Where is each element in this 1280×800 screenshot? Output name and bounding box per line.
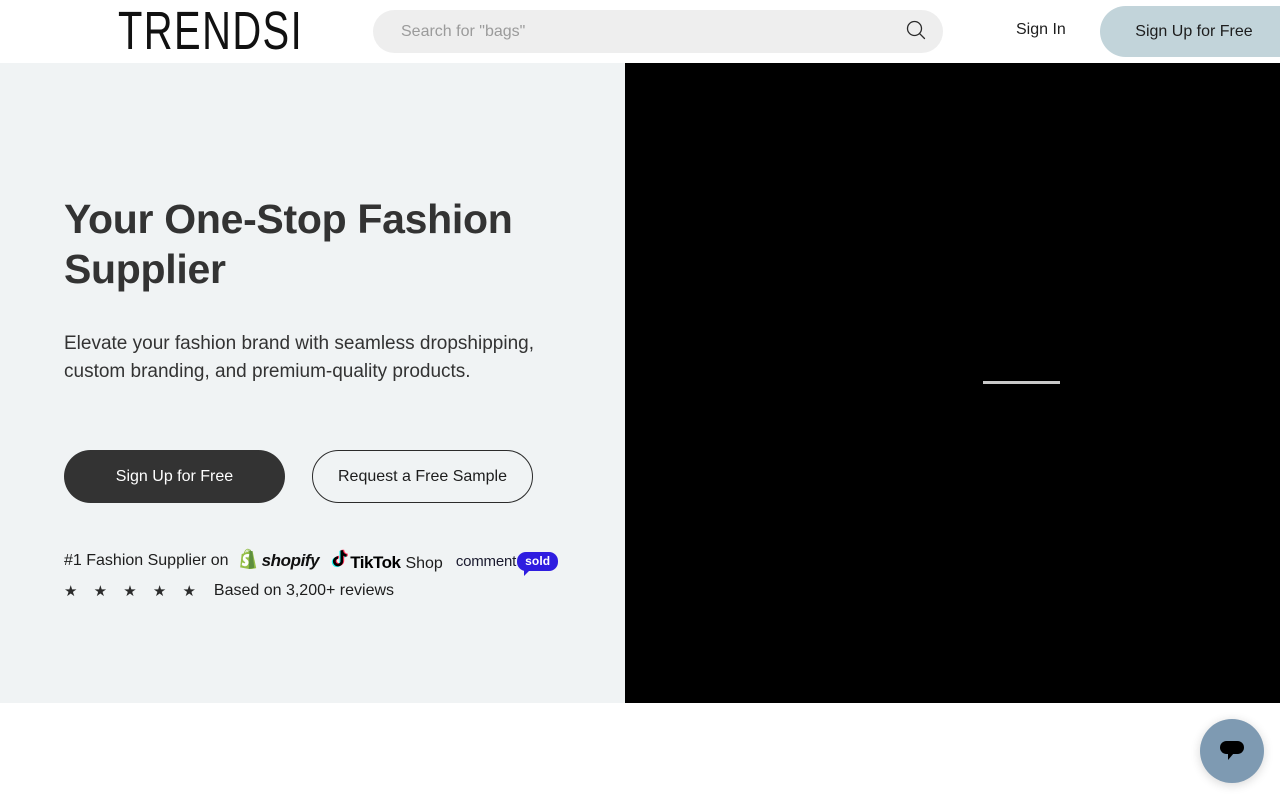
tiktok-wordmark: TikTok <box>350 553 400 573</box>
site-header: TRENDSI Sign In Sign Up for Free <box>0 0 1280 63</box>
brand-logo[interactable]: TRENDSI <box>118 4 303 58</box>
search-submit-button[interactable] <box>897 10 943 53</box>
chat-widget-button[interactable] <box>1200 719 1264 783</box>
search-bar[interactable] <box>373 10 943 53</box>
search-input[interactable] <box>373 23 897 41</box>
social-proof-prefix: #1 Fashion Supplier on <box>64 552 229 570</box>
review-count-label: Based on 3,200+ reviews <box>214 582 394 600</box>
video-progress-bar[interactable] <box>983 381 1060 384</box>
hero-sign-up-button[interactable]: Sign Up for Free <box>64 450 285 503</box>
hero-content: Your One-Stop Fashion Supplier Elevate y… <box>64 194 584 601</box>
header-sign-up-button[interactable]: Sign Up for Free <box>1100 6 1280 57</box>
commentsold-logo: comment sold <box>456 552 558 571</box>
shopify-logo: shopify <box>239 548 320 574</box>
commentsold-badge: sold <box>517 552 558 571</box>
hero-cta-row: Sign Up for Free Request a Free Sample <box>64 450 584 503</box>
chat-bubble-icon <box>1216 735 1248 768</box>
sign-in-button[interactable]: Sign In <box>1016 21 1066 39</box>
hero-section: Your One-Stop Fashion Supplier Elevate y… <box>0 63 1280 703</box>
tiktok-shop-logo: TikTok Shop <box>331 549 443 573</box>
social-proof-row: #1 Fashion Supplier on shopify <box>64 550 584 572</box>
tiktok-note-icon <box>331 549 348 573</box>
shopify-wordmark: shopify <box>262 551 320 571</box>
tiktok-shop-label: Shop <box>405 555 442 573</box>
search-icon <box>904 18 928 45</box>
commentsold-wordmark: comment <box>456 553 516 570</box>
request-sample-button[interactable]: Request a Free Sample <box>312 450 533 503</box>
hero-headline: Your One-Stop Fashion Supplier <box>64 194 534 294</box>
rating-row: ★ ★ ★ ★ ★ Based on 3,200+ reviews <box>64 581 584 601</box>
hero-subheadline: Elevate your fashion brand with seamless… <box>64 330 569 386</box>
hero-video-panel[interactable] <box>625 63 1280 703</box>
star-rating-icon: ★ ★ ★ ★ ★ <box>64 582 202 600</box>
shopify-bag-icon <box>239 548 258 574</box>
